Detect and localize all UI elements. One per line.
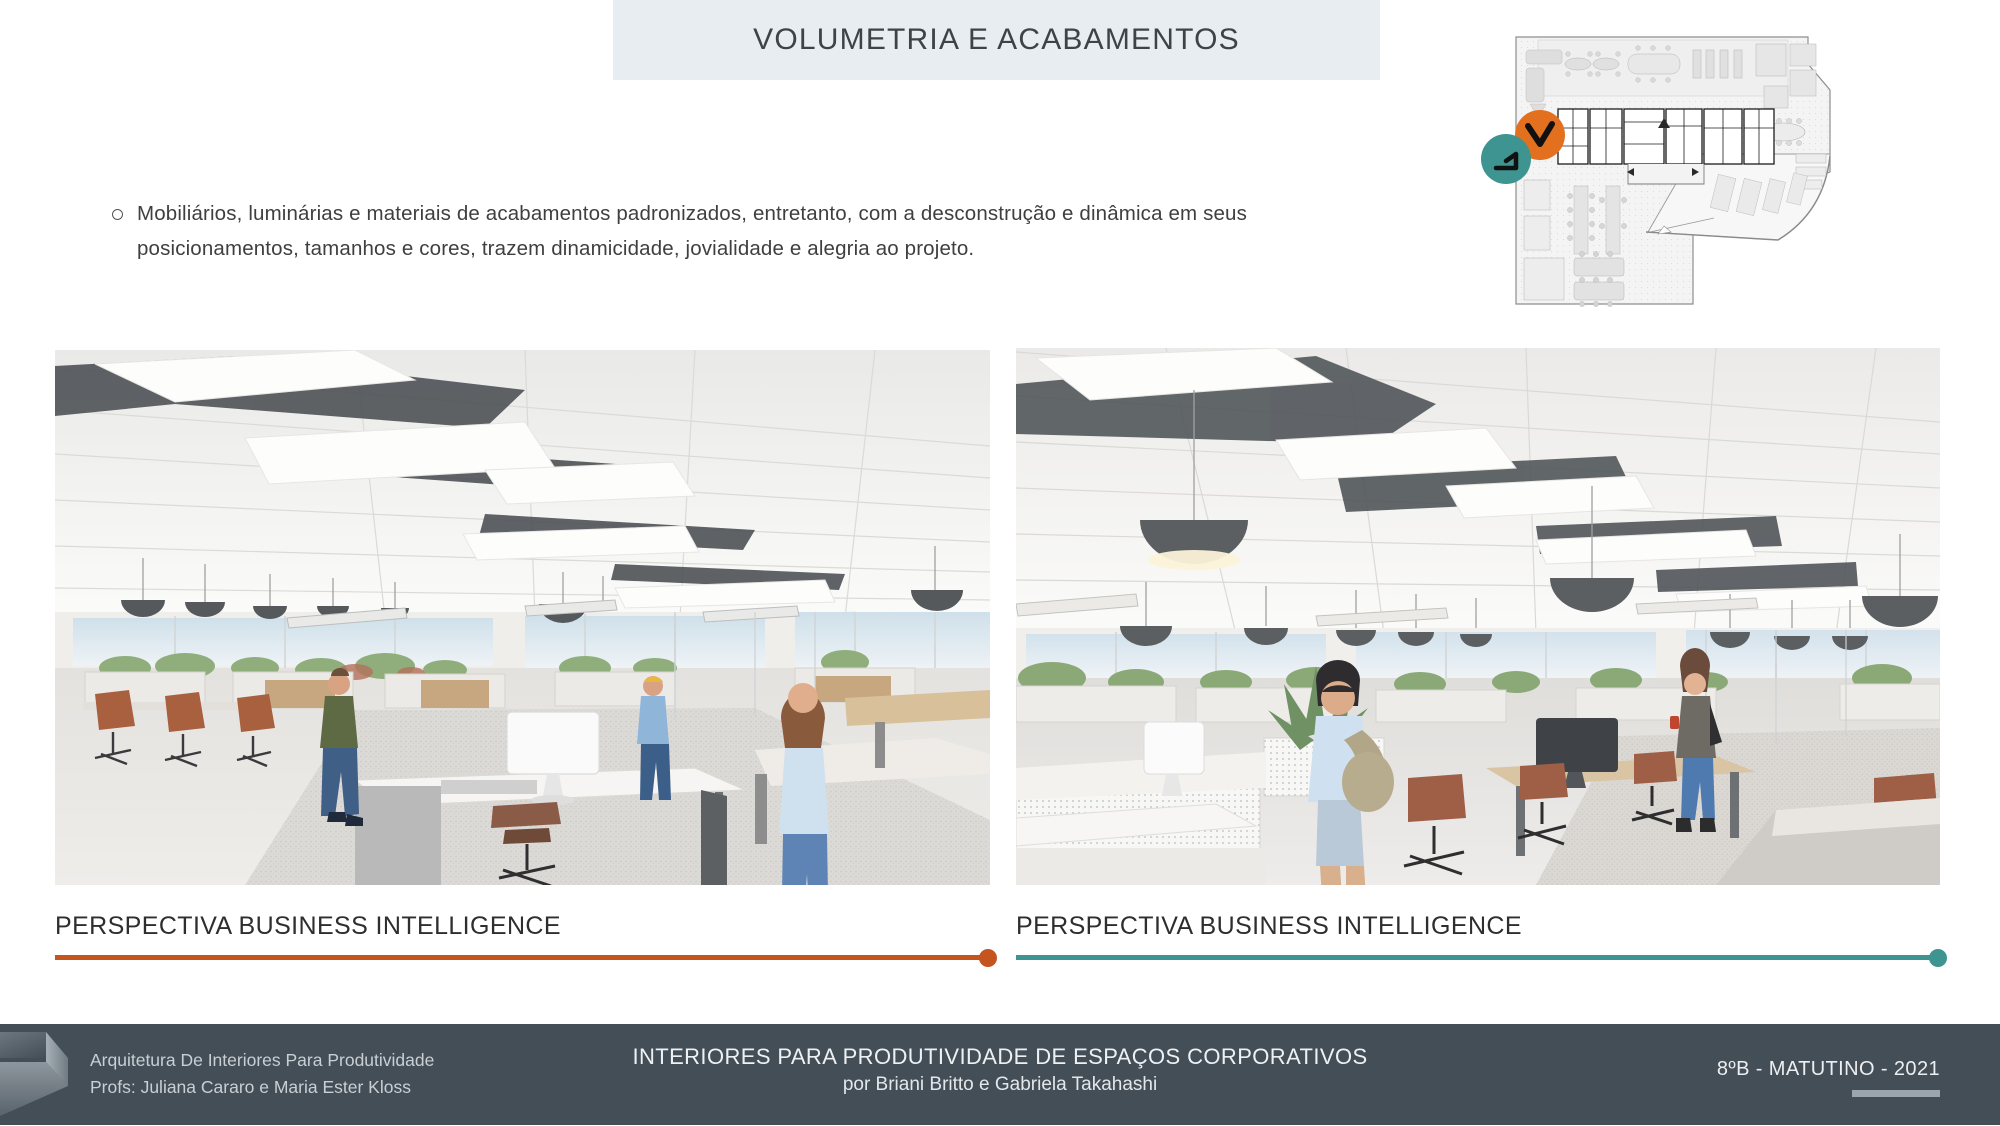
footer-class-block: 8ºB - MATUTINO - 2021	[1717, 1058, 1940, 1097]
caption-left-rule	[55, 950, 990, 964]
caption-left-rule-line	[55, 955, 990, 960]
caption-right-rule-line	[1016, 955, 1940, 960]
slide-footer: Arquitetura De Interiores Para Produtivi…	[0, 1024, 2000, 1125]
footer-project-block: INTERIORES PARA PRODUTIVIDADE DE ESPAÇOS…	[0, 1044, 2000, 1096]
caption-right-label: PERSPECTIVA BUSINESS INTELLIGENCE	[1016, 912, 1940, 941]
caption-right-rule-dot	[1929, 949, 1947, 967]
footer-accent-bar	[1852, 1090, 1940, 1097]
bullet-item-text: Mobiliários, luminárias e materiais de a…	[137, 196, 1352, 266]
key-plan-thumbnail	[1478, 4, 1978, 314]
perspectiva-business-intelligence-right-image	[1016, 348, 1940, 885]
caption-left-label: PERSPECTIVA BUSINESS INTELLIGENCE	[55, 912, 990, 941]
perspectiva-business-intelligence-left-image	[55, 350, 990, 885]
hollow-circle-bullet-icon	[112, 209, 123, 220]
footer-authors: por Briani Britto e Gabriela Takahashi	[0, 1074, 2000, 1096]
slide-title-banner: VOLUMETRIA E ACABAMENTOS	[613, 0, 1380, 80]
caption-right: PERSPECTIVA BUSINESS INTELLIGENCE	[1016, 912, 1940, 964]
footer-project-title: INTERIORES PARA PRODUTIVIDADE DE ESPAÇOS…	[0, 1044, 2000, 1070]
caption-left: PERSPECTIVA BUSINESS INTELLIGENCE	[55, 912, 990, 964]
bullet-item: Mobiliários, luminárias e materiais de a…	[112, 196, 1352, 266]
footer-class-info: 8ºB - MATUTINO - 2021	[1717, 1058, 1940, 1081]
caption-left-rule-dot	[979, 949, 997, 967]
slide-body: Mobiliários, luminárias e materiais de a…	[112, 196, 1352, 266]
page-title: VOLUMETRIA E ACABAMENTOS	[753, 23, 1240, 57]
caption-right-rule	[1016, 950, 1940, 964]
camera-marker-teal	[1481, 134, 1531, 184]
